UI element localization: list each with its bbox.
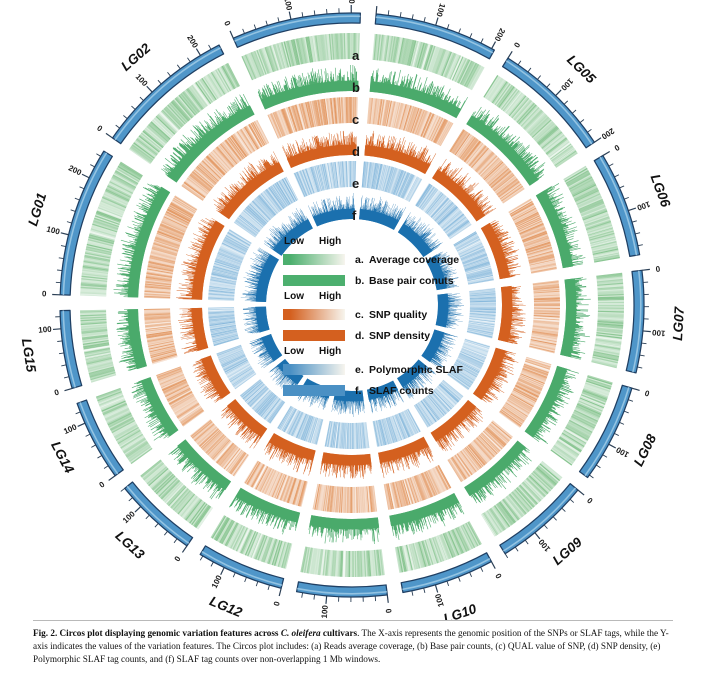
tick: [620, 186, 625, 188]
tick: [64, 388, 72, 390]
tick: [302, 12, 303, 17]
tick-label: 100: [537, 537, 553, 553]
legend-scale-a: LowHigh: [283, 236, 349, 249]
tick: [158, 80, 161, 84]
tick-label: 100: [210, 573, 224, 589]
tick: [75, 198, 80, 200]
tick: [609, 164, 613, 166]
tick: [570, 499, 574, 502]
tick: [71, 210, 76, 212]
chromosome-label-LG02: LG02: [118, 40, 154, 74]
tick: [135, 507, 141, 513]
tick-label: 0: [42, 289, 47, 298]
tick: [424, 588, 425, 593]
track-b-LG15: [116, 309, 147, 371]
legend-high-label: High: [319, 236, 341, 247]
tick: [233, 573, 235, 578]
tick: [632, 221, 637, 222]
tick: [470, 33, 472, 38]
tick: [556, 90, 562, 96]
tick: [106, 133, 113, 138]
tick: [400, 12, 401, 17]
track-f-LG14: [249, 334, 282, 368]
tick: [388, 10, 389, 15]
legend-item-c: c.SNP quality: [283, 304, 479, 325]
legend-label-a: a.Average coverage: [355, 254, 459, 266]
tick: [53, 329, 61, 330]
tick-label: 0: [384, 607, 394, 613]
track-letter-c: c: [352, 112, 359, 127]
tick: [64, 377, 69, 378]
tick: [435, 585, 437, 593]
chromosome-label-LG15: LG15: [19, 337, 39, 373]
track-f-LG03: [308, 193, 355, 226]
tick: [614, 175, 618, 177]
tick-label: 100: [320, 604, 330, 619]
ideogram-LG07[interactable]: 0100LG07: [626, 264, 687, 373]
tick: [256, 581, 258, 586]
tick: [140, 97, 144, 101]
track-a-LG03: [241, 33, 359, 80]
tick: [458, 577, 460, 582]
tick: [619, 422, 624, 424]
tick-label: 100: [433, 592, 446, 608]
tick-label: 200: [67, 163, 83, 177]
tick: [642, 269, 650, 270]
tick: [535, 533, 540, 539]
legend: LowHigha.Average coverageb.Base pair con…: [283, 236, 479, 401]
tick: [628, 400, 633, 402]
legend-high-label: High: [319, 291, 341, 302]
tick: [147, 86, 152, 92]
tick: [146, 515, 149, 519]
tick: [537, 76, 540, 80]
tick: [589, 475, 593, 478]
track-letter-d: d: [352, 144, 360, 159]
tick: [254, 25, 256, 30]
track-letter-b: b: [352, 80, 360, 95]
tick-label: 200: [599, 126, 616, 141]
tick: [278, 17, 279, 22]
tick-label: 0: [655, 264, 661, 274]
tick: [268, 585, 269, 590]
tick: [279, 588, 281, 596]
tick-label: 0: [95, 123, 104, 133]
tick: [642, 343, 647, 344]
tick: [109, 476, 115, 481]
tick: [230, 31, 233, 38]
chromosome-label-LG01: LG01: [25, 191, 49, 228]
track-f-LG15: [243, 307, 270, 334]
legend-item-e: e.Polymorphic SLAF: [283, 359, 479, 380]
legend-item-d: d.SNP density: [283, 325, 479, 346]
tick: [82, 174, 89, 177]
ideogram-LG15[interactable]: 0100LG15: [19, 310, 82, 397]
track-f-LG04: [359, 196, 406, 230]
tick: [640, 355, 645, 356]
tick: [624, 197, 629, 199]
tick: [596, 465, 600, 468]
tick: [562, 508, 566, 511]
caption-divider: [33, 620, 673, 621]
tick: [580, 120, 584, 123]
legend-swatch-a: [283, 254, 345, 265]
tick: [376, 6, 377, 14]
tick: [200, 556, 203, 560]
legend-key: c.: [355, 309, 369, 321]
tick: [209, 45, 211, 49]
tick: [447, 24, 449, 29]
tick-label: 100: [635, 199, 651, 212]
tick: [528, 68, 531, 72]
tick: [90, 165, 94, 167]
tick: [326, 596, 327, 604]
tick: [78, 423, 85, 426]
tick: [544, 525, 547, 529]
track-e-LG15: [208, 307, 239, 346]
tick: [123, 115, 127, 118]
tick-label: 100: [38, 325, 53, 335]
track-c-LG03: [267, 97, 358, 139]
tick-label: 0: [373, 0, 382, 1]
chromosome-label-LG08: LG08: [631, 431, 660, 468]
legend-key: e.: [355, 364, 369, 376]
legend-low-label: Low: [284, 346, 304, 357]
tick: [553, 517, 556, 521]
tick: [61, 246, 66, 247]
tick: [624, 411, 629, 413]
tick-label: 200: [492, 27, 507, 44]
tick: [603, 151, 610, 155]
legend-key: f.: [355, 385, 369, 397]
track-d-LG07: [498, 286, 526, 344]
tick-label: 100: [62, 422, 78, 436]
tick: [603, 455, 607, 458]
tick: [525, 540, 528, 544]
track-letter-f: f: [352, 208, 356, 223]
tick: [578, 490, 584, 495]
tick: [491, 562, 495, 569]
tick-label: 0: [612, 143, 621, 153]
legend-label-c: c.SNP quality: [355, 309, 427, 321]
tick-label: 0: [512, 41, 522, 50]
track-f-LG01: [241, 248, 279, 302]
tick-label: 0: [222, 20, 232, 28]
legend-swatch-c: [283, 309, 345, 320]
tick: [61, 365, 66, 366]
tick: [182, 546, 187, 553]
tick: [116, 125, 120, 128]
legend-item-f: f.SLAF counts: [283, 380, 479, 401]
chromosome-label-LG07: LG07: [670, 305, 687, 341]
caption-figure-label: Fig. 2.: [33, 628, 57, 638]
chromosome-label-LG14: LG14: [48, 439, 77, 476]
legend-label-d: d.SNP density: [355, 330, 430, 342]
tick: [121, 488, 125, 491]
tick: [174, 539, 177, 543]
tick: [508, 51, 512, 58]
tick: [76, 412, 81, 414]
legend-label-f: f.SLAF counts: [355, 385, 434, 397]
track-d-LG11: [320, 452, 372, 479]
tick-label: 0: [272, 600, 282, 607]
tick: [131, 106, 135, 109]
tick: [587, 129, 591, 132]
tick: [505, 554, 508, 558]
legend-scale-c: LowHigh: [283, 291, 349, 304]
legend-label-b: b.Base pair conuts: [355, 275, 454, 287]
track-a-LG07: [591, 273, 624, 369]
tick: [243, 29, 245, 34]
tick: [635, 233, 640, 234]
tick: [387, 595, 388, 603]
tick: [638, 245, 643, 246]
legend-label-e: e.Polymorphic SLAF: [355, 364, 463, 376]
caption-title: Circos plot displaying genomic variation…: [60, 628, 358, 638]
tick: [594, 138, 601, 142]
tick: [177, 65, 180, 69]
legend-key: b.: [355, 275, 369, 287]
chromosome-label-LG09: LG09: [550, 534, 586, 568]
tick: [614, 433, 618, 435]
chromosome-label-LG12: LG12: [207, 593, 244, 620]
track-e-LG11: [325, 421, 370, 449]
track-d-LG15: [178, 308, 208, 354]
tick: [564, 101, 568, 104]
tick: [59, 353, 64, 354]
tick: [187, 58, 190, 62]
tick: [196, 49, 200, 56]
tick: [628, 208, 636, 211]
tick-label: 0: [53, 387, 60, 397]
track-b-LG11: [309, 515, 380, 544]
track-b-LG07: [560, 277, 591, 359]
tick: [289, 12, 291, 20]
tick: [57, 341, 62, 342]
tick: [245, 577, 247, 582]
legend-low-label: Low: [284, 291, 304, 302]
tick: [412, 591, 413, 596]
chromosome-label-LG13: LG13: [112, 528, 147, 562]
tick-label: 100: [46, 225, 62, 237]
legend-swatch-f: [283, 385, 345, 396]
tick: [632, 388, 640, 390]
tick-label: 100: [614, 445, 631, 460]
tick: [459, 29, 461, 34]
tick-label: 200: [347, 0, 356, 4]
tick-label: 100: [282, 0, 294, 12]
legend-scale-e: LowHigh: [283, 346, 349, 359]
tick: [167, 72, 170, 76]
track-c-LG07: [529, 280, 560, 353]
tick: [481, 567, 483, 571]
tick: [86, 434, 90, 436]
tick-label: 0: [97, 480, 106, 490]
legend-high-label: High: [319, 346, 341, 357]
tick-label: 0: [585, 495, 595, 505]
tick: [609, 444, 616, 448]
tick: [97, 455, 101, 458]
tick: [314, 10, 315, 15]
tick: [515, 547, 518, 551]
tick: [643, 331, 651, 332]
chromosome-label-LG10: LG10: [442, 601, 479, 620]
track-a-LG11: [300, 547, 384, 577]
track-c-LG15: [144, 308, 178, 364]
tick: [424, 17, 425, 22]
tick: [211, 562, 213, 566]
legend-low-label: Low: [284, 236, 304, 247]
tick: [104, 466, 108, 469]
tick: [266, 21, 267, 26]
tick-label: 0: [173, 554, 183, 563]
tick: [302, 593, 303, 598]
tick: [57, 270, 62, 271]
legend-item-b: b.Base pair conuts: [283, 270, 479, 291]
tick: [470, 572, 472, 577]
legend-item-a: a.Average coverage: [283, 249, 479, 270]
tick: [447, 581, 449, 586]
tick-label: 100: [434, 2, 447, 18]
tick: [518, 61, 521, 65]
track-e-LG03: [293, 161, 356, 197]
tick-label: 0: [493, 571, 503, 580]
track-a-LG15: [80, 310, 116, 383]
ideogram-LG11[interactable]: 0100LG11: [297, 582, 394, 620]
figure-caption: Fig. 2. Circos plot displaying genomic v…: [33, 627, 673, 666]
legend-swatch-d: [283, 330, 345, 341]
tick: [129, 498, 133, 501]
tick: [637, 367, 642, 368]
tick: [96, 154, 100, 157]
tick: [61, 233, 69, 235]
tick: [481, 39, 483, 43]
tick: [59, 258, 64, 259]
track-letter-a: a: [352, 48, 359, 63]
track-letter-e: e: [352, 176, 359, 191]
figure-container: 0100200LG010100200LG020100200LG030100200…: [0, 0, 704, 673]
track-e-LG10: [373, 409, 421, 447]
tick: [492, 42, 496, 49]
chromosome-label-LG04: LG04: [430, 0, 467, 3]
tick: [572, 110, 576, 113]
tick-label: 200: [185, 33, 200, 50]
chromosome-label-LG06: LG06: [647, 172, 673, 209]
tick: [314, 595, 315, 600]
tick: [155, 523, 158, 527]
tick: [80, 187, 85, 189]
tick: [91, 445, 95, 447]
legend-swatch-e: [283, 364, 345, 375]
legend-key: d.: [355, 330, 369, 342]
tick-label: 100: [651, 328, 666, 338]
tick: [164, 531, 167, 535]
tick: [547, 84, 550, 88]
tick: [436, 18, 438, 26]
legend-swatch-b: [283, 275, 345, 286]
tick: [67, 222, 72, 223]
tick: [221, 568, 225, 575]
legend-key: a.: [355, 254, 369, 266]
tick-label: 0: [643, 388, 650, 398]
track-c-LG11: [313, 484, 378, 513]
tick: [412, 14, 413, 19]
